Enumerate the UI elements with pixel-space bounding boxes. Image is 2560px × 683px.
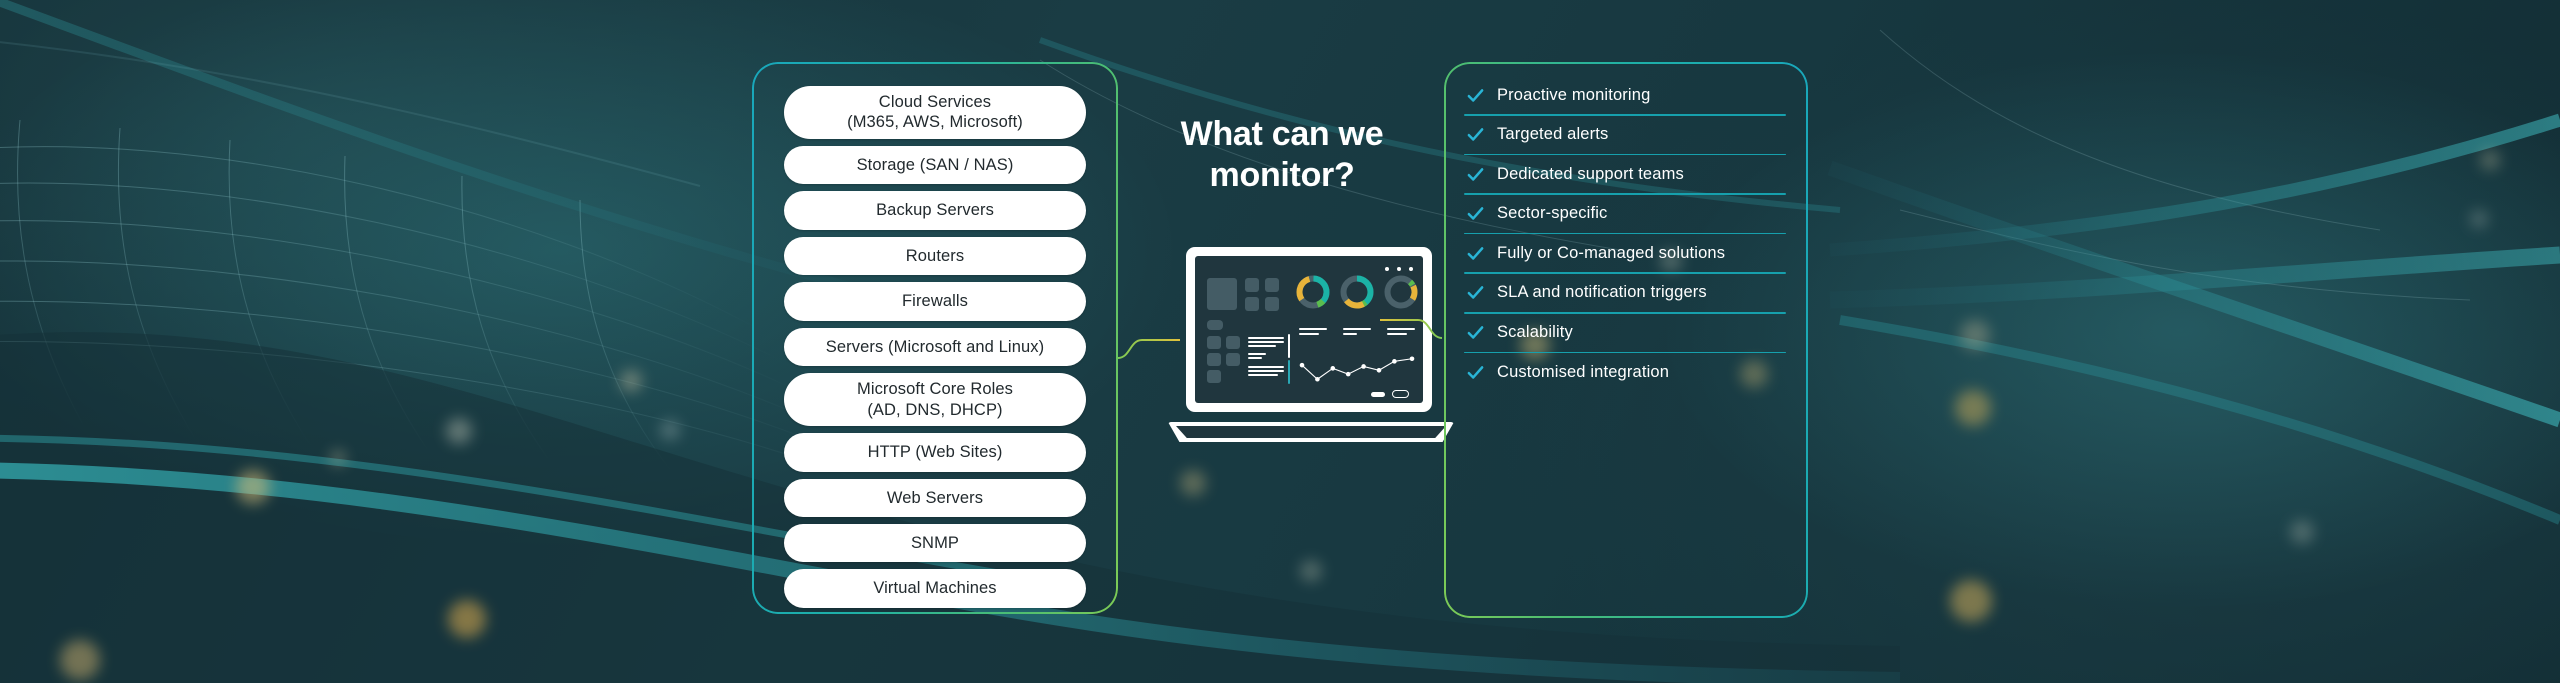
laptop-base <box>1168 422 1454 442</box>
benefit-label: Scalability <box>1497 323 1573 342</box>
monitored-system-pill[interactable]: Routers <box>784 237 1086 275</box>
benefit-label: Dedicated support teams <box>1497 165 1684 184</box>
monitored-system-pill[interactable]: Firewalls <box>784 282 1086 320</box>
window-dot-icon <box>1409 267 1413 271</box>
window-dot-icon <box>1385 267 1389 271</box>
monitored-system-pill[interactable]: Servers (Microsoft and Linux) <box>784 328 1086 366</box>
monitored-system-pill[interactable]: Web Servers <box>784 479 1086 517</box>
check-icon <box>1466 125 1485 144</box>
line-chart-point <box>1300 363 1305 368</box>
donut-label-line <box>1299 333 1319 335</box>
benefit-row[interactable]: Customised integration <box>1464 353 1786 391</box>
dashboard-text-line <box>1248 345 1276 347</box>
line-chart-point <box>1392 359 1397 364</box>
line-chart-point <box>1346 372 1351 377</box>
check-icon <box>1466 363 1485 382</box>
benefit-label: Customised integration <box>1497 363 1669 382</box>
dashboard-footer-pill <box>1371 392 1385 397</box>
benefit-row[interactable]: Proactive monitoring <box>1464 76 1786 114</box>
dashboard-tile <box>1265 278 1279 292</box>
check-icon <box>1466 165 1485 184</box>
dashboard-tile <box>1245 297 1259 311</box>
dashboard-text-line <box>1248 374 1278 376</box>
line-chart <box>1297 348 1417 390</box>
laptop-screen <box>1195 256 1423 403</box>
benefit-row[interactable]: Targeted alerts <box>1464 116 1786 154</box>
dashboard-sidebar-tile <box>1207 320 1223 330</box>
dashboard-tile <box>1265 297 1279 311</box>
center-column: What can we monitor? <box>1120 62 1444 622</box>
line-chart-point <box>1361 364 1366 369</box>
dashboard-sidebar-tile <box>1226 353 1240 366</box>
benefit-row[interactable]: Sector-specific <box>1464 195 1786 233</box>
laptop-base-inner <box>1176 426 1446 438</box>
benefit-row[interactable]: SLA and notification triggers <box>1464 274 1786 312</box>
monitored-system-pill[interactable]: Virtual Machines <box>784 569 1086 607</box>
line-chart-point <box>1377 368 1382 373</box>
benefit-label: Fully or Co-managed solutions <box>1497 244 1725 263</box>
monitored-system-pill[interactable]: HTTP (Web Sites) <box>784 433 1086 471</box>
monitored-system-pill[interactable]: Storage (SAN / NAS) <box>784 146 1086 184</box>
dashboard-text-line <box>1248 341 1284 343</box>
donut-label-line <box>1387 333 1407 335</box>
benefit-row[interactable]: Fully or Co-managed solutions <box>1464 234 1786 272</box>
dashboard-divider <box>1288 334 1290 358</box>
dashboard-tile-large <box>1207 278 1237 310</box>
window-dot-icon <box>1397 267 1401 271</box>
monitored-systems-panel: Cloud Services (M365, AWS, Microsoft)Sto… <box>752 62 1118 614</box>
donut-label-line <box>1343 328 1371 330</box>
infographic-canvas: Cloud Services (M365, AWS, Microsoft)Sto… <box>0 0 2560 683</box>
dashboard-sidebar-tile <box>1207 336 1221 349</box>
benefit-label: SLA and notification triggers <box>1497 283 1707 302</box>
donut-label-line <box>1387 328 1415 330</box>
check-icon <box>1466 323 1485 342</box>
laptop-camera-notch <box>1283 256 1335 261</box>
benefit-label: Sector-specific <box>1497 204 1607 223</box>
monitored-system-pill[interactable]: Microsoft Core Roles (AD, DNS, DHCP) <box>784 373 1086 426</box>
monitored-system-pill[interactable]: Cloud Services (M365, AWS, Microsoft) <box>784 86 1086 139</box>
dashboard-sidebar-tile <box>1207 370 1221 383</box>
check-icon <box>1466 283 1485 302</box>
monitored-system-pill[interactable]: SNMP <box>784 524 1086 562</box>
benefit-label: Proactive monitoring <box>1497 86 1650 105</box>
dashboard-text-line <box>1248 357 1262 359</box>
laptop-lid <box>1186 247 1432 412</box>
donut-charts <box>1295 274 1419 320</box>
dashboard-sidebar-tile <box>1207 353 1221 366</box>
dashboard-text-line <box>1248 337 1284 339</box>
dashboard-text-line <box>1248 366 1284 368</box>
page-title: What can we monitor? <box>1120 114 1444 197</box>
donut-label-line <box>1343 333 1357 335</box>
check-icon <box>1466 244 1485 263</box>
dashboard-footer-pill-outline <box>1392 390 1409 398</box>
dashboard-sidebar-tile <box>1226 336 1240 349</box>
check-icon <box>1466 86 1485 105</box>
dashboard-text-line <box>1248 370 1284 372</box>
monitoring-benefits-list: Proactive monitoringTargeted alertsDedic… <box>1464 76 1786 391</box>
monitored-systems-list: Cloud Services (M365, AWS, Microsoft)Sto… <box>784 86 1086 608</box>
monitoring-benefits-panel: Proactive monitoringTargeted alertsDedic… <box>1444 62 1808 618</box>
line-chart-point <box>1315 377 1320 382</box>
benefit-row[interactable]: Dedicated support teams <box>1464 155 1786 193</box>
check-icon <box>1466 204 1485 223</box>
laptop-trackpad-notch <box>1287 422 1335 426</box>
donut-label-line <box>1299 328 1327 330</box>
benefit-label: Targeted alerts <box>1497 125 1608 144</box>
line-chart-point <box>1410 356 1415 361</box>
dashboard-laptop-illustration <box>1168 247 1454 442</box>
monitored-system-pill[interactable]: Backup Servers <box>784 191 1086 229</box>
dashboard-tile <box>1245 278 1259 292</box>
benefit-row[interactable]: Scalability <box>1464 314 1786 352</box>
dashboard-text-line <box>1248 353 1266 355</box>
dashboard-divider <box>1288 360 1290 384</box>
line-chart-point <box>1331 366 1336 371</box>
